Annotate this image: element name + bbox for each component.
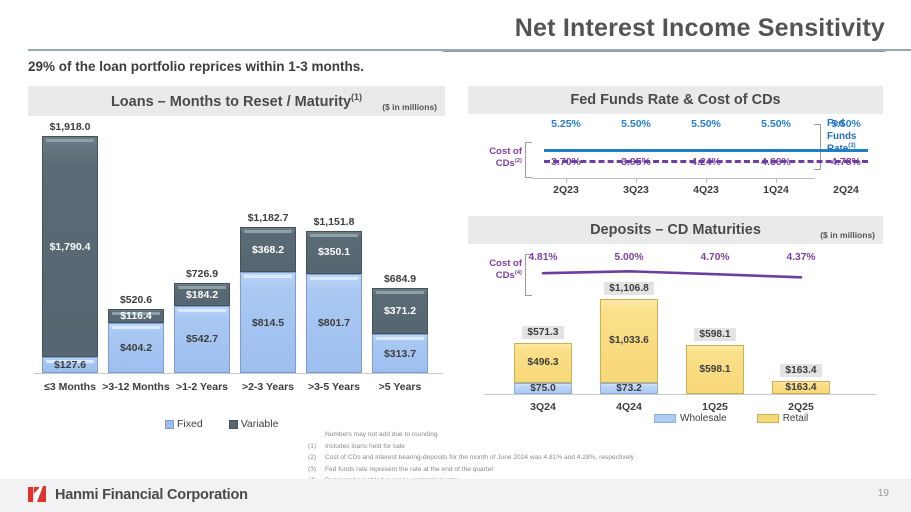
- loans-category-label: >5 Years: [357, 381, 443, 393]
- deposits-category-label: 4Q24: [585, 401, 673, 413]
- fed-funds-category-label: 4Q23: [670, 184, 742, 196]
- loans-segment-variable[interactable]: $368.2: [240, 227, 296, 272]
- loans-bar-group: $1,182.7$368.2$814.5: [240, 212, 296, 373]
- deposits-segment-wholesale[interactable]: $75.0: [514, 383, 572, 394]
- subtitle: 29% of the loan portfolio reprices withi…: [28, 59, 364, 74]
- loans-bar-group: $726.9$184.2$542.7: [174, 268, 230, 373]
- deposits-bar-group: $1,106.8$1,033.6$73.2: [600, 282, 658, 394]
- deposits-category-label: 2Q25: [757, 401, 845, 413]
- cost-of-cds-footnote-ref: (2): [515, 158, 522, 164]
- deposits-cost-of-cds-value: 4.37%: [763, 252, 839, 263]
- deposits-segment-retail[interactable]: $496.3: [514, 343, 572, 383]
- legend-swatch-retail: [757, 414, 779, 423]
- footnote-text: Includes loans held for sale: [325, 441, 405, 453]
- loans-segment-variable-label: $368.2: [252, 244, 284, 256]
- deposits-bar-total-label: $163.4: [780, 364, 821, 377]
- loans-bar-group: $1,918.0$1,790.4$127.6: [42, 121, 98, 373]
- loans-legend: Fixed Variable: [165, 418, 278, 430]
- legend-label-fixed: Fixed: [177, 418, 203, 430]
- fed-funds-panel-header: Fed Funds Rate & Cost of CDs: [468, 86, 883, 114]
- fed-funds-rate-value: 5.25%: [530, 118, 602, 130]
- legend-item-fixed: Fixed: [165, 418, 203, 430]
- fed-funds-value-group: 5.25%: [530, 118, 602, 130]
- footnote-item: (2)Cost of CDs and interest bearing-depo…: [308, 452, 634, 464]
- deposits-segment-retail[interactable]: $598.1: [686, 345, 744, 394]
- loans-segment-variable[interactable]: $371.2: [372, 288, 428, 334]
- fed-funds-rate-value: 5.50%: [600, 118, 672, 130]
- loans-segment-fixed-label: $313.7: [384, 348, 416, 360]
- footnote-item: Numbers may not add due to rounding: [308, 429, 634, 441]
- deposits-bar-stack: $1,033.6$73.2: [600, 299, 658, 394]
- loans-segment-variable[interactable]: $116.4: [108, 309, 164, 323]
- fed-funds-category-label: 2Q24: [810, 184, 882, 196]
- deposits-bar-stack: $598.1: [686, 345, 744, 394]
- deposits-cost-of-cds-footnote-ref: (4): [515, 270, 522, 276]
- legend-item-wholesale: Wholesale: [654, 413, 727, 424]
- loans-segment-fixed-label: $542.7: [186, 333, 218, 345]
- legend-swatch-variable: [229, 420, 238, 429]
- loans-segment-fixed-label: $404.2: [120, 342, 152, 354]
- fed-funds-value-group: 5.50%: [600, 118, 672, 130]
- company-logo: Hanmi Financial Corporation: [28, 485, 248, 504]
- loans-bar-total-label: $726.9: [186, 268, 218, 280]
- deposits-cost-of-cds-polyline: [543, 271, 801, 277]
- loans-segment-fixed[interactable]: $127.6: [42, 357, 98, 373]
- fed-funds-rate-value: 5.50%: [810, 118, 882, 130]
- deposits-category-label: 3Q24: [499, 401, 587, 413]
- loans-segment-fixed[interactable]: $801.7: [306, 274, 362, 373]
- fed-funds-category-label: 3Q23: [600, 184, 672, 196]
- cost-of-cds-dashed-line: [544, 160, 868, 163]
- loans-bar-stack: $1,790.4$127.6: [42, 136, 98, 373]
- loans-segment-variable[interactable]: $1,790.4: [42, 136, 98, 357]
- page-number: 19: [878, 488, 889, 499]
- loans-bar-total-label: $684.9: [384, 273, 416, 285]
- fed-funds-category-label: 2Q23: [530, 184, 602, 196]
- deposits-bar-stack: $163.4: [772, 381, 830, 394]
- loans-segment-variable[interactable]: $350.1: [306, 231, 362, 274]
- fed-funds-rate-value: 5.50%: [670, 118, 742, 130]
- loans-segment-variable-label: $1,790.4: [50, 241, 91, 253]
- loans-bar-total-label: $1,918.0: [50, 121, 91, 133]
- fed-funds-rate-value: 5.50%: [740, 118, 812, 130]
- loans-segment-fixed-label: $127.6: [54, 359, 86, 371]
- legend-item-variable: Variable: [229, 418, 279, 430]
- deposits-legend: Wholesale Retail: [654, 413, 808, 424]
- deposits-segment-retail-label: $1,033.6: [609, 335, 649, 346]
- loans-bar-stack: $371.2$313.7: [372, 288, 428, 373]
- fed-funds-value-group: 5.50%: [810, 118, 882, 130]
- loans-panel-header: Loans – Months to Reset / Maturity(1) ($…: [28, 86, 445, 116]
- fed-funds-value-group: 5.50%: [670, 118, 742, 130]
- loans-segment-variable-label: $371.2: [384, 305, 416, 317]
- loans-segment-fixed[interactable]: $814.5: [240, 272, 296, 373]
- loans-segment-variable[interactable]: $184.2: [174, 283, 230, 306]
- deposits-segment-retail-label: $496.3: [527, 357, 558, 368]
- deposits-category-label: 1Q25: [671, 401, 759, 413]
- deposits-segment-retail-label: $163.4: [785, 382, 816, 393]
- loans-segment-variable-label: $116.4: [120, 310, 152, 322]
- loans-bar-group: $1,151.8$350.1$801.7: [306, 216, 362, 373]
- legend-label-retail: Retail: [783, 413, 809, 424]
- loans-segment-fixed-label: $814.5: [252, 317, 284, 329]
- fed-funds-category-label: 1Q24: [740, 184, 812, 196]
- legend-label-variable: Variable: [241, 418, 279, 430]
- legend-swatch-fixed: [165, 420, 174, 429]
- subtitle-divider: [28, 49, 911, 51]
- loans-bar-group: $684.9$371.2$313.7: [372, 273, 428, 373]
- deposits-bar-total-label: $598.1: [694, 328, 735, 341]
- legend-label-wholesale: Wholesale: [680, 413, 727, 424]
- deposits-x-axis: [484, 394, 877, 395]
- deposits-segment-wholesale-label: $75.0: [530, 383, 556, 394]
- deposits-bar-group: $598.1$598.1: [686, 328, 744, 394]
- footer: Hanmi Financial Corporation 19: [0, 479, 911, 512]
- footnote-text: Cost of CDs and interest bearing-deposit…: [325, 452, 634, 464]
- deposits-bar-group: $571.3$496.3$75.0: [514, 326, 572, 394]
- loans-segment-fixed-label: $801.7: [318, 317, 350, 329]
- loans-x-axis: [34, 373, 443, 374]
- deposits-segment-wholesale[interactable]: $73.2: [600, 383, 658, 394]
- deposits-segment-wholesale-label: $73.2: [616, 383, 642, 394]
- loans-segment-fixed[interactable]: $542.7: [174, 306, 230, 373]
- company-name: Hanmi Financial Corporation: [55, 487, 248, 503]
- deposits-bar-group: $163.4$163.4: [772, 364, 830, 394]
- loans-segment-variable-label: $184.2: [186, 289, 218, 301]
- deposits-bar-total-label: $571.3: [522, 326, 563, 339]
- deposits-cost-of-cds-value: 5.00%: [591, 252, 667, 263]
- fed-funds-axis-tick: [776, 178, 777, 183]
- loans-bar-total-label: $520.6: [120, 294, 152, 306]
- deposits-units-label: ($ in millions): [820, 230, 875, 240]
- footnote-item: (1)Includes loans held for sale: [308, 441, 634, 453]
- fed-funds-axis-tick: [566, 178, 567, 183]
- footnotes: Numbers may not add due to rounding(1)In…: [308, 429, 634, 487]
- loans-segment-fixed[interactable]: $404.2: [108, 323, 164, 373]
- footnote-number: (2): [308, 452, 325, 464]
- fed-funds-axis-tick: [706, 178, 707, 183]
- loans-bar-group: $520.6$116.4$404.2: [108, 294, 164, 373]
- loans-bar-chart: $1,918.0$1,790.4$127.6≤3 Months$520.6$11…: [28, 120, 445, 395]
- footnote-text: Numbers may not add due to rounding: [325, 429, 438, 441]
- footnote-number: (3): [308, 464, 325, 476]
- deposits-panel-header: Deposits – CD Maturities ($ in millions): [468, 216, 883, 244]
- deposits-cost-of-cds-value: 4.70%: [677, 252, 753, 263]
- legend-swatch-wholesale: [654, 414, 676, 423]
- hanmi-logo-icon: [28, 485, 47, 504]
- fed-funds-panel-title: Fed Funds Rate & Cost of CDs: [570, 92, 780, 108]
- fed-funds-rate-line: [544, 149, 868, 152]
- loans-units-label: ($ in millions): [382, 102, 437, 112]
- loans-bar-stack: $116.4$404.2: [108, 309, 164, 373]
- footnote-number: (1): [308, 441, 325, 453]
- loans-bar-stack: $184.2$542.7: [174, 283, 230, 373]
- page-title: Net Interest Income Sensitivity: [440, 14, 885, 43]
- loans-title-footnote-ref: (1): [351, 92, 362, 102]
- deposits-bar-stack: $496.3$75.0: [514, 343, 572, 394]
- cost-of-cds-label: Cost of CDs(2): [468, 146, 522, 170]
- loans-segment-fixed[interactable]: $313.7: [372, 334, 428, 373]
- footnote-text: Fed funds rate represent the rate at the…: [325, 464, 494, 476]
- loans-bar-stack: $350.1$801.7: [306, 231, 362, 373]
- deposits-panel-title: Deposits – CD Maturities: [590, 222, 761, 238]
- loans-bar-total-label: $1,151.8: [314, 216, 355, 228]
- loans-segment-variable-label: $350.1: [318, 246, 350, 258]
- loans-bar-stack: $368.2$814.5: [240, 227, 296, 373]
- deposits-cost-of-cds-value: 4.81%: [505, 252, 581, 263]
- deposits-segment-retail[interactable]: $163.4: [772, 381, 830, 394]
- fed-funds-axis-tick: [636, 178, 637, 183]
- legend-item-retail: Retail: [757, 413, 809, 424]
- footnote-item: (3)Fed funds rate represent the rate at …: [308, 464, 634, 476]
- deposits-bar-chart: Cost of CDs(4) $571.3$496.3$75.03Q244.81…: [468, 246, 883, 426]
- fed-funds-x-axis: [532, 178, 815, 179]
- loans-panel-title: Loans – Months to Reset / Maturity(1): [111, 92, 362, 110]
- deposits-bar-total-label: $1,106.8: [604, 282, 654, 295]
- footnote-number: [308, 429, 325, 441]
- fed-funds-value-group: 5.50%: [740, 118, 812, 130]
- loans-bar-total-label: $1,182.7: [248, 212, 289, 224]
- fed-funds-line-chart: Cost of CDs(2) Fed Funds Rate(3) 5.25%3.…: [468, 118, 883, 198]
- deposits-segment-retail-label: $598.1: [699, 364, 730, 375]
- deposits-segment-retail[interactable]: $1,033.6: [600, 299, 658, 383]
